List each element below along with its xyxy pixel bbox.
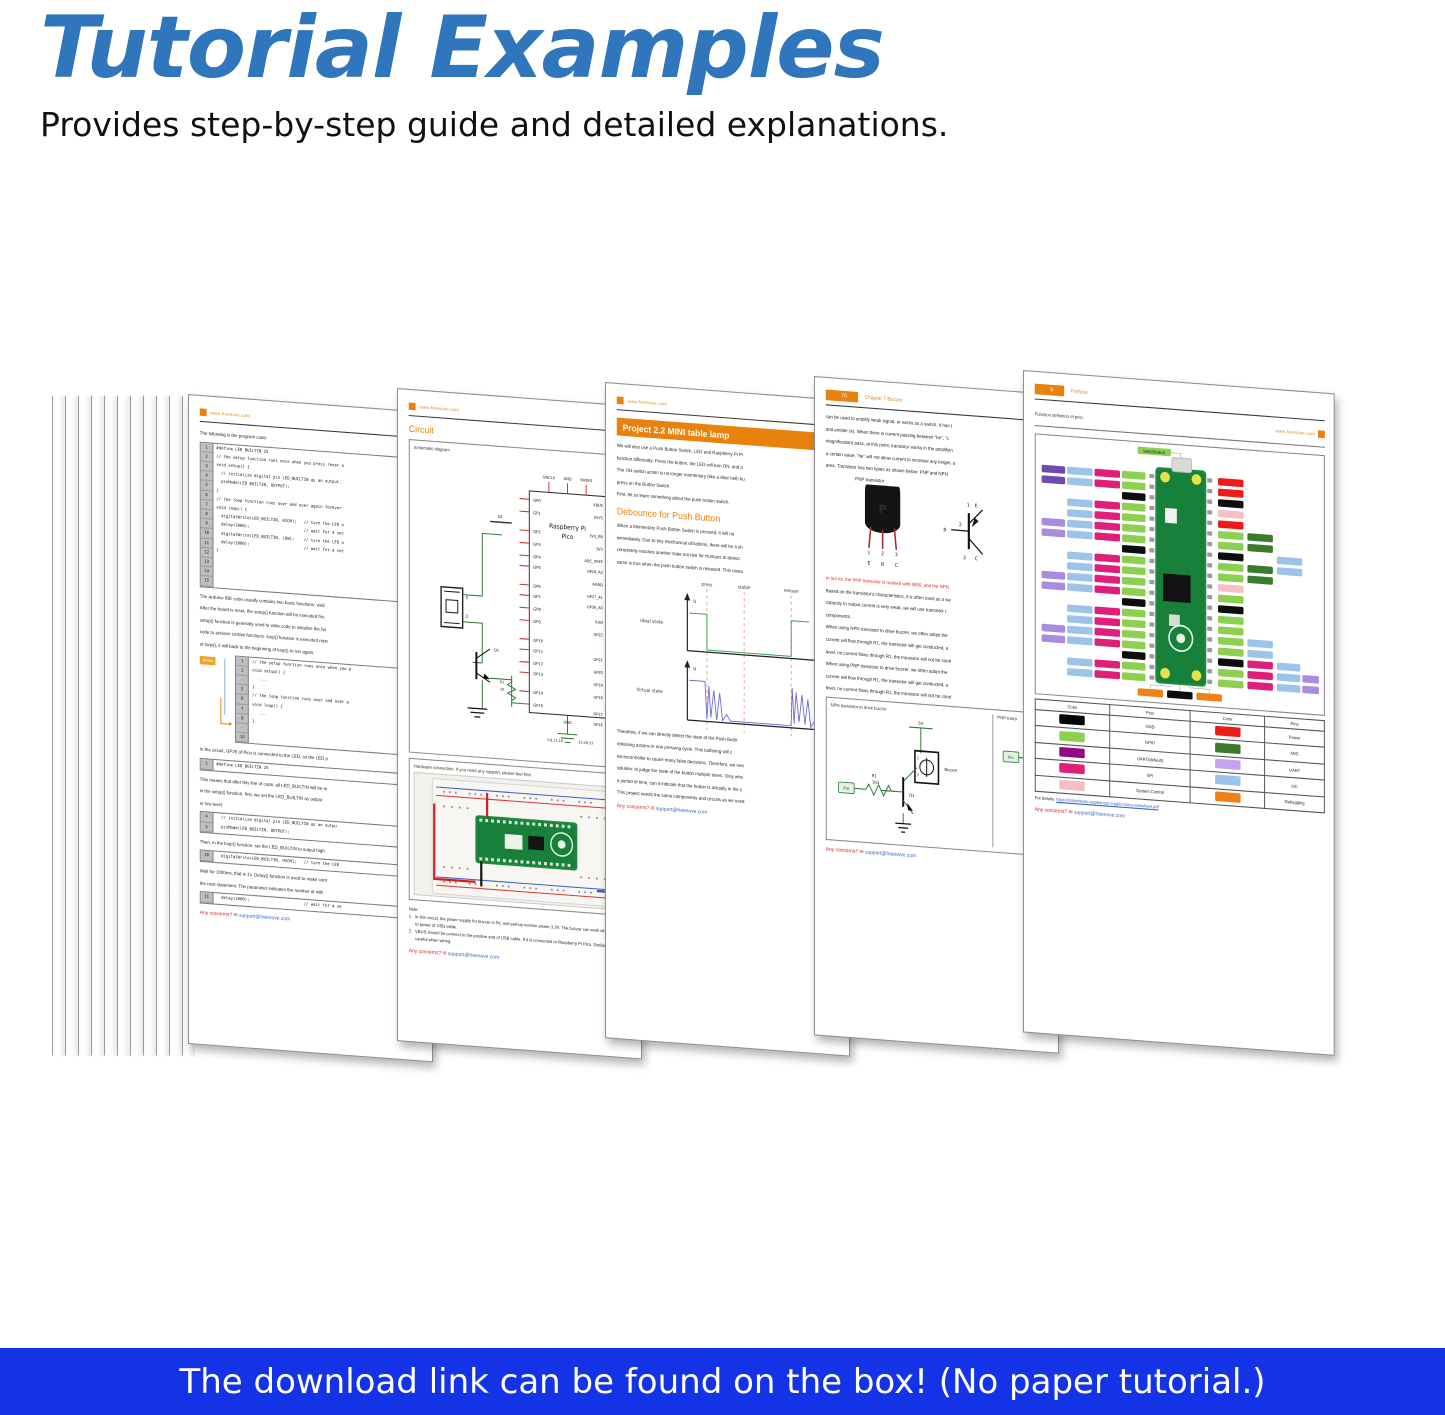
svg-text:GP5: GP5 xyxy=(533,564,541,570)
svg-text:23,28,33: 23,28,33 xyxy=(578,740,593,745)
page-title: Tutorial Examples xyxy=(40,0,884,98)
svg-text:5: 5 xyxy=(466,595,469,600)
brand-label: www.freenove.com xyxy=(1276,428,1315,436)
svg-text:P: P xyxy=(879,502,887,516)
debounce-waveform-figure: press stable release U Ideal state xyxy=(617,570,840,744)
buzzer-label: Buzzer xyxy=(944,767,958,773)
svg-text:GP12: GP12 xyxy=(533,661,543,667)
color-swatch xyxy=(1060,780,1085,791)
line-number: 11 xyxy=(201,892,213,903)
code-block-main: 1 2 3 4 5 6 7 8 9 10 11 12 13 14 15 xyxy=(200,441,423,603)
code-gutter: 10 xyxy=(201,851,214,862)
color-swatch xyxy=(1060,714,1085,725)
wave-col-label: stable xyxy=(738,585,751,592)
freenove-logo-icon xyxy=(409,402,416,410)
svg-text:3: 3 xyxy=(963,555,966,561)
concerns-label: Any concerns? xyxy=(200,909,232,918)
svg-text:GP18: GP18 xyxy=(593,695,603,700)
buzzer-drive-figure: NPN transistor to drive buzzer 5V 1 2 Bu… xyxy=(826,696,1049,856)
svg-text:GP3: GP3 xyxy=(533,541,541,547)
pico-pinout-figure: Raspberry Pi Pico xyxy=(1035,433,1325,716)
svg-text:Pico: Pico xyxy=(562,533,574,541)
page-subtitle: Provides step-by-step guide and detailed… xyxy=(40,105,948,144)
concerns-label: Any concerns? xyxy=(617,803,649,812)
concerns-label: Any concerns? xyxy=(409,948,441,957)
svg-text:GP4: GP4 xyxy=(533,554,541,560)
svg-text:SWCLK: SWCLK xyxy=(543,475,556,480)
code-gutter: 1 2 3 4 5 6 7 8 9 10 11 12 13 14 15 xyxy=(201,442,214,587)
svg-text:GP11: GP11 xyxy=(533,648,543,654)
line-number: 1 xyxy=(201,759,213,770)
svg-text:GP8: GP8 xyxy=(533,606,541,612)
svg-text:VBUS: VBUS xyxy=(593,503,603,508)
svg-text:RUN: RUN xyxy=(595,620,603,625)
svg-text:GP16: GP16 xyxy=(593,723,603,728)
color-swatch xyxy=(1215,726,1240,737)
reset-badge: Reset xyxy=(200,656,216,666)
support-email[interactable]: support@freenove.com xyxy=(239,912,290,922)
hardware-figure: Hardware connection. If you need any sup… xyxy=(409,758,632,917)
support-email[interactable]: support@freenove.com xyxy=(656,806,707,816)
page-edge-stack xyxy=(52,396,202,1056)
flow-arrows-icon xyxy=(219,654,233,655)
page-edge xyxy=(52,396,65,1057)
svg-text:C: C xyxy=(975,556,979,562)
pin-letter: B xyxy=(881,561,884,567)
download-link-banner: The download link can be found on the bo… xyxy=(0,1348,1445,1415)
line-number: 5 xyxy=(201,822,213,832)
color-swatch xyxy=(1215,742,1240,753)
page-stack-scene: www.freenove.com The following is the pr… xyxy=(0,370,1445,1110)
support-email[interactable]: support@freenove.com xyxy=(448,951,499,961)
code-body: #define LED_BUILTIN 25 // the setup func… xyxy=(213,443,422,602)
svg-text:Virtual state: Virtual state xyxy=(636,687,663,695)
line-number: 10 xyxy=(201,851,213,862)
line-number: 15 xyxy=(201,576,213,586)
concerns-label: Any concerns? xyxy=(826,846,858,855)
envelope-icon: ✉ xyxy=(860,849,864,856)
svg-text:E: E xyxy=(975,503,978,509)
svg-text:GP6: GP6 xyxy=(533,583,541,589)
supply-label: 5V xyxy=(918,720,923,726)
chapter-label: Preface xyxy=(1071,388,1088,396)
q1-label: Q1 xyxy=(909,792,915,798)
svg-text:SWDIO: SWDIO xyxy=(580,478,592,483)
wave-col-label: press xyxy=(701,582,713,589)
execution-flow-figure: Reset 1 2 - 5 6 7 8 - 15 xyxy=(200,652,423,757)
page-edge xyxy=(156,396,169,1057)
banner-text: The download link can be found on the bo… xyxy=(179,1362,1265,1402)
svg-text:3,8,13,18: 3,8,13,18 xyxy=(547,738,563,743)
envelope-icon: ✉ xyxy=(234,912,238,919)
color-swatch xyxy=(1215,791,1240,802)
page-edge xyxy=(169,396,182,1057)
page-edge xyxy=(143,396,156,1057)
svg-text:3V3: 3V3 xyxy=(596,547,604,552)
chapter-label: Chapter 7 Buzzer xyxy=(865,395,903,404)
color-swatch xyxy=(1215,759,1240,770)
svg-text:GP13: GP13 xyxy=(533,671,543,677)
code-gutter: 1 2 - 5 6 7 8 - 15 xyxy=(236,656,249,743)
svg-text:GP7: GP7 xyxy=(533,594,541,600)
r1-value: 1kΩ xyxy=(872,779,879,785)
pin-color-table: Color Pins Color Pins GNDPowerGPIOADCUAR… xyxy=(1035,698,1325,813)
svg-text:Ideal state: Ideal state xyxy=(640,618,663,626)
support-email[interactable]: support@freenove.com xyxy=(865,849,916,859)
svg-text:U: U xyxy=(693,599,696,605)
brand-label: www.freenove.com xyxy=(211,410,250,418)
page-edge xyxy=(117,396,130,1057)
brand-label: www.freenove.com xyxy=(420,404,459,412)
svg-text:2: 2 xyxy=(959,522,962,528)
svg-text:GP0: GP0 xyxy=(533,498,541,504)
page-edge xyxy=(130,396,143,1057)
svg-text:VSYS: VSYS xyxy=(594,516,604,521)
brand-row: www.freenove.com xyxy=(1276,425,1325,439)
svg-text:GP17: GP17 xyxy=(593,712,602,717)
svg-text:U: U xyxy=(693,666,696,672)
envelope-icon: ✉ xyxy=(443,950,447,957)
freenove-logo-icon xyxy=(200,408,207,416)
pin-label: Pin xyxy=(843,785,849,791)
pin-type-cell: Debugging xyxy=(1265,792,1325,813)
svg-text:GND: GND xyxy=(563,477,571,482)
tutorial-page-preface[interactable]: 6 Preface Function definition of pins: w… xyxy=(1023,370,1335,1056)
svg-text:GND: GND xyxy=(563,720,571,725)
pin-letter: C xyxy=(895,563,899,569)
svg-text:GP22: GP22 xyxy=(593,633,602,638)
for-details-label: For details: xyxy=(1035,795,1055,802)
color-swatch xyxy=(1060,731,1085,742)
svg-text:GP10: GP10 xyxy=(533,638,543,644)
svg-text:B: B xyxy=(943,527,946,533)
svg-text:GP2: GP2 xyxy=(533,529,541,535)
page-edge xyxy=(104,396,117,1057)
svg-text:1K: 1K xyxy=(500,687,505,691)
code-gutter: 4 5 xyxy=(201,812,214,832)
schematic-figure: Schematic diagram Raspberry Pi Pico SWCL… xyxy=(409,439,632,769)
svg-text:GP15: GP15 xyxy=(533,702,543,708)
freenove-logo-icon xyxy=(617,396,624,404)
page-edge xyxy=(91,396,104,1057)
svg-text:GP20: GP20 xyxy=(593,670,603,675)
breadboard-photo xyxy=(414,772,628,911)
figure-title: Function definition of pins: xyxy=(1035,411,1084,420)
svg-text:AGND: AGND xyxy=(592,582,603,587)
pin-number: 2 xyxy=(881,551,884,557)
svg-text:GP1: GP1 xyxy=(533,510,541,516)
svg-text:GP9: GP9 xyxy=(533,619,541,625)
header: Tutorial Examples Provides step-by-step … xyxy=(0,0,1445,180)
svg-text:GP21: GP21 xyxy=(593,658,602,663)
color-swatch xyxy=(1215,775,1240,786)
page-number: 6 xyxy=(1035,384,1064,397)
pin-number: 1 xyxy=(867,550,870,556)
support-email[interactable]: support@freenove.com xyxy=(1074,809,1125,819)
envelope-icon: ✉ xyxy=(1069,809,1073,816)
r1-label: R1 xyxy=(872,773,877,779)
svg-text:2: 2 xyxy=(466,614,469,619)
wave-col-label: release xyxy=(784,588,799,595)
envelope-icon: ✉ xyxy=(651,805,655,812)
code-gutter: 1 xyxy=(201,759,214,770)
schematic-diagram-icon: Raspberry Pi Pico SWCLK GND SWDIO xyxy=(414,453,626,759)
concerns-label: Any concerns? xyxy=(1035,806,1067,815)
color-swatch xyxy=(1060,763,1085,774)
transistor-figure: P 123 EBC E1 B2 xyxy=(826,481,1049,591)
brand-label: www.freenove.com xyxy=(628,398,667,406)
svg-text:GP14: GP14 xyxy=(533,690,543,696)
pin-label: Pin xyxy=(1008,755,1014,761)
svg-text:Q1: Q1 xyxy=(494,648,499,652)
svg-text:1: 1 xyxy=(967,503,970,509)
code-gutter: 11 xyxy=(201,892,214,903)
svg-text:GP19: GP19 xyxy=(593,683,603,688)
page-edge xyxy=(65,396,78,1057)
color-swatch xyxy=(1060,747,1085,758)
svg-text:2: 2 xyxy=(917,773,919,777)
svg-text:D1: D1 xyxy=(498,515,503,519)
svg-text:R1: R1 xyxy=(500,680,504,684)
line-number: 15 xyxy=(236,733,248,743)
freenove-logo-icon xyxy=(1318,430,1325,438)
npn-buzzer-circuit-icon: 5V 1 2 Buzzer Q1 xyxy=(831,711,978,847)
pico-pinout-icon: Raspberry Pi Pico xyxy=(1040,439,1320,710)
pin-number: 3 xyxy=(895,552,898,558)
pin-letter: E xyxy=(867,560,870,566)
page-edge xyxy=(78,396,91,1057)
code-block-flow: 1 2 - 5 6 7 8 - 15 // the setup function… xyxy=(235,655,423,757)
page-number: 70 xyxy=(826,390,858,403)
svg-text:1: 1 xyxy=(917,756,919,760)
